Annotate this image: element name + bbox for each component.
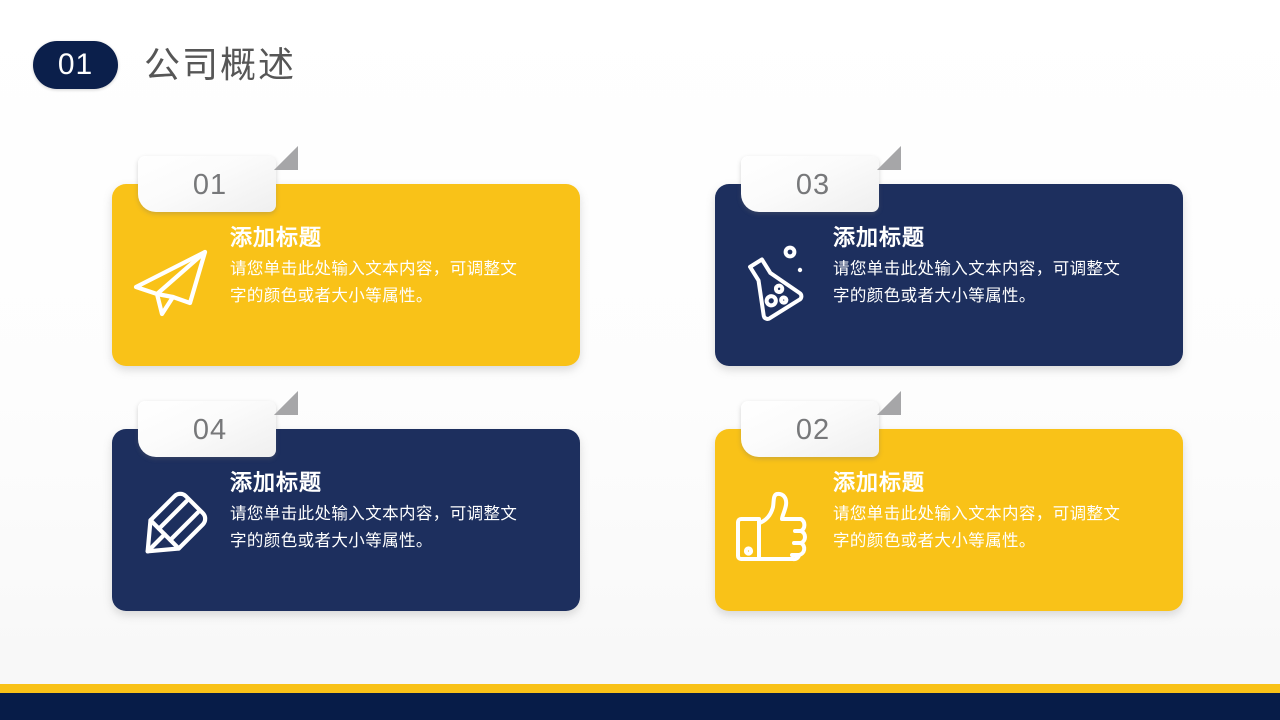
card-number-tab: 04 <box>138 401 276 457</box>
card-number-label: 03 <box>796 171 830 200</box>
card-number-tab: 01 <box>138 156 276 212</box>
content-card-01[interactable]: 01 添加标题 请您单击此处输入文本内容，可调整文字的颜色或者大小等属性。 <box>112 184 580 366</box>
paper-plane-icon <box>112 218 230 342</box>
card-number-tab: 02 <box>741 401 879 457</box>
folded-corner-highlight-icon <box>274 391 298 415</box>
card-description: 请您单击此处输入文本内容，可调整文字的颜色或者大小等属性。 <box>833 256 1133 309</box>
card-number-tab: 03 <box>741 156 879 212</box>
pencil-icon <box>112 463 230 587</box>
section-number-label: 01 <box>58 50 93 80</box>
slide-header: 01 公司概述 <box>33 41 296 89</box>
card-description: 请您单击此处输入文本内容，可调整文字的颜色或者大小等属性。 <box>833 501 1133 554</box>
folded-corner-highlight-icon <box>274 146 298 170</box>
footer-accent-bar <box>0 684 1280 693</box>
folded-corner-highlight-icon <box>877 146 901 170</box>
folded-corner-highlight-icon <box>877 391 901 415</box>
card-content: 添加标题 请您单击此处输入文本内容，可调整文字的颜色或者大小等属性。 <box>112 218 580 366</box>
card-number-label: 02 <box>796 416 830 445</box>
section-number-badge: 01 <box>33 41 118 89</box>
card-text: 添加标题 请您单击此处输入文本内容，可调整文字的颜色或者大小等属性。 <box>833 463 1133 555</box>
content-card-04[interactable]: 04 添加标题 请您单击此处输入文本内容，可调整文字的颜色或者大小等 <box>112 429 580 611</box>
slide-canvas: 01 公司概述 01 添加标题 请您单击此处输入文本内容，可调整文字的颜色或者大… <box>0 0 1280 720</box>
card-title: 添加标题 <box>833 226 1133 250</box>
card-description: 请您单击此处输入文本内容，可调整文字的颜色或者大小等属性。 <box>230 501 530 554</box>
card-number-label: 04 <box>193 416 227 445</box>
card-title: 添加标题 <box>833 471 1133 495</box>
page-title: 公司概述 <box>144 47 296 83</box>
content-card-02[interactable]: 02 添加标题 请您单击此处输入文本内容，可调整文字的颜色或者大小等属性。 <box>715 429 1183 611</box>
thumbs-up-icon <box>715 463 833 587</box>
card-description: 请您单击此处输入文本内容，可调整文字的颜色或者大小等属性。 <box>230 256 530 309</box>
card-title: 添加标题 <box>230 471 530 495</box>
card-content: 添加标题 请您单击此处输入文本内容，可调整文字的颜色或者大小等属性。 <box>715 218 1183 366</box>
card-title: 添加标题 <box>230 226 530 250</box>
card-text: 添加标题 请您单击此处输入文本内容，可调整文字的颜色或者大小等属性。 <box>833 218 1133 310</box>
card-text: 添加标题 请您单击此处输入文本内容，可调整文字的颜色或者大小等属性。 <box>230 463 530 555</box>
card-content: 添加标题 请您单击此处输入文本内容，可调整文字的颜色或者大小等属性。 <box>112 463 580 611</box>
flask-icon <box>715 218 833 342</box>
card-content: 添加标题 请您单击此处输入文本内容，可调整文字的颜色或者大小等属性。 <box>715 463 1183 611</box>
content-card-03[interactable]: 03 添加标题 请您单击此处输入文本内容，可调整文 <box>715 184 1183 366</box>
footer-base-bar <box>0 693 1280 720</box>
card-text: 添加标题 请您单击此处输入文本内容，可调整文字的颜色或者大小等属性。 <box>230 218 530 310</box>
card-number-label: 01 <box>193 171 227 200</box>
